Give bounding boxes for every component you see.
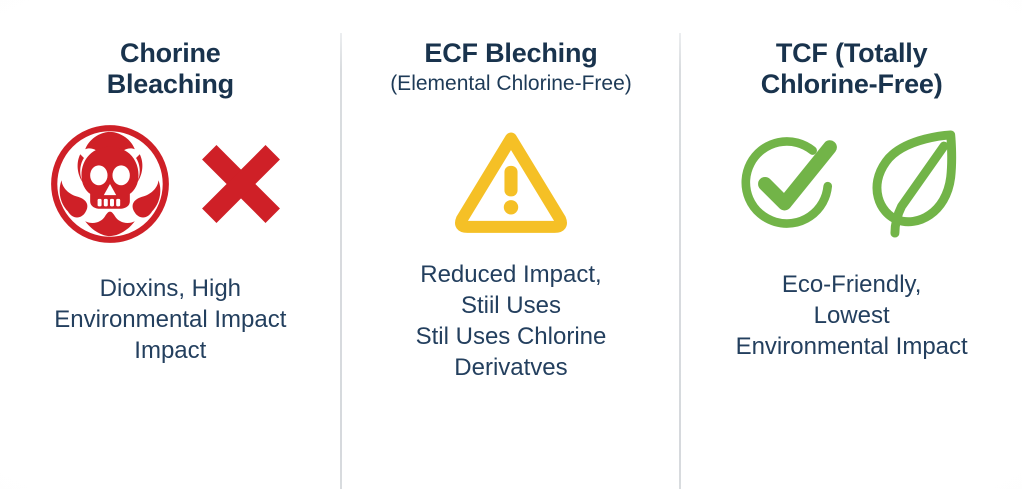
column-title-3: TCF (Totally Chlorine-Free) [681, 38, 1022, 101]
column-body-2: Reduced Impact, Stiil Uses Stil Uses Chl… [406, 259, 617, 384]
infographic-root: Chorine Bleaching [0, 0, 1022, 489]
icon-row-2 [451, 115, 571, 245]
red-x-icon [190, 133, 292, 235]
column-heading-block-1: Chorine Bleaching [0, 38, 341, 101]
column-heading-block-3: TCF (Totally Chlorine-Free) [681, 38, 1022, 101]
check-circle-icon [737, 130, 845, 238]
column-heading-block-2: ECF Bleching (Elemental Chlorine-Free) [341, 38, 682, 97]
column-title-2: ECF Bleching [341, 38, 682, 69]
column-ecf-bleaching: ECF Bleching (Elemental Chlorine-Free) R… [341, 0, 682, 489]
biohazard-skull-icon [48, 122, 172, 246]
column-body-3: Eco-Friendly, Lowest Environmental Impac… [726, 269, 978, 363]
leaf-icon [863, 126, 967, 242]
warning-triangle-icon [451, 124, 571, 236]
column-title-1: Chorine Bleaching [0, 38, 341, 101]
column-subtitle-2: (Elemental Chlorine-Free) [341, 72, 682, 96]
column-chlorine-bleaching: Chorine Bleaching [0, 0, 341, 489]
column-body-1: Dioxins, High Environmental Impact Impac… [44, 273, 296, 367]
column-tcf-bleaching: TCF (Totally Chlorine-Free) [681, 0, 1022, 489]
icon-row-1 [48, 119, 292, 249]
icon-row-3 [737, 119, 967, 249]
